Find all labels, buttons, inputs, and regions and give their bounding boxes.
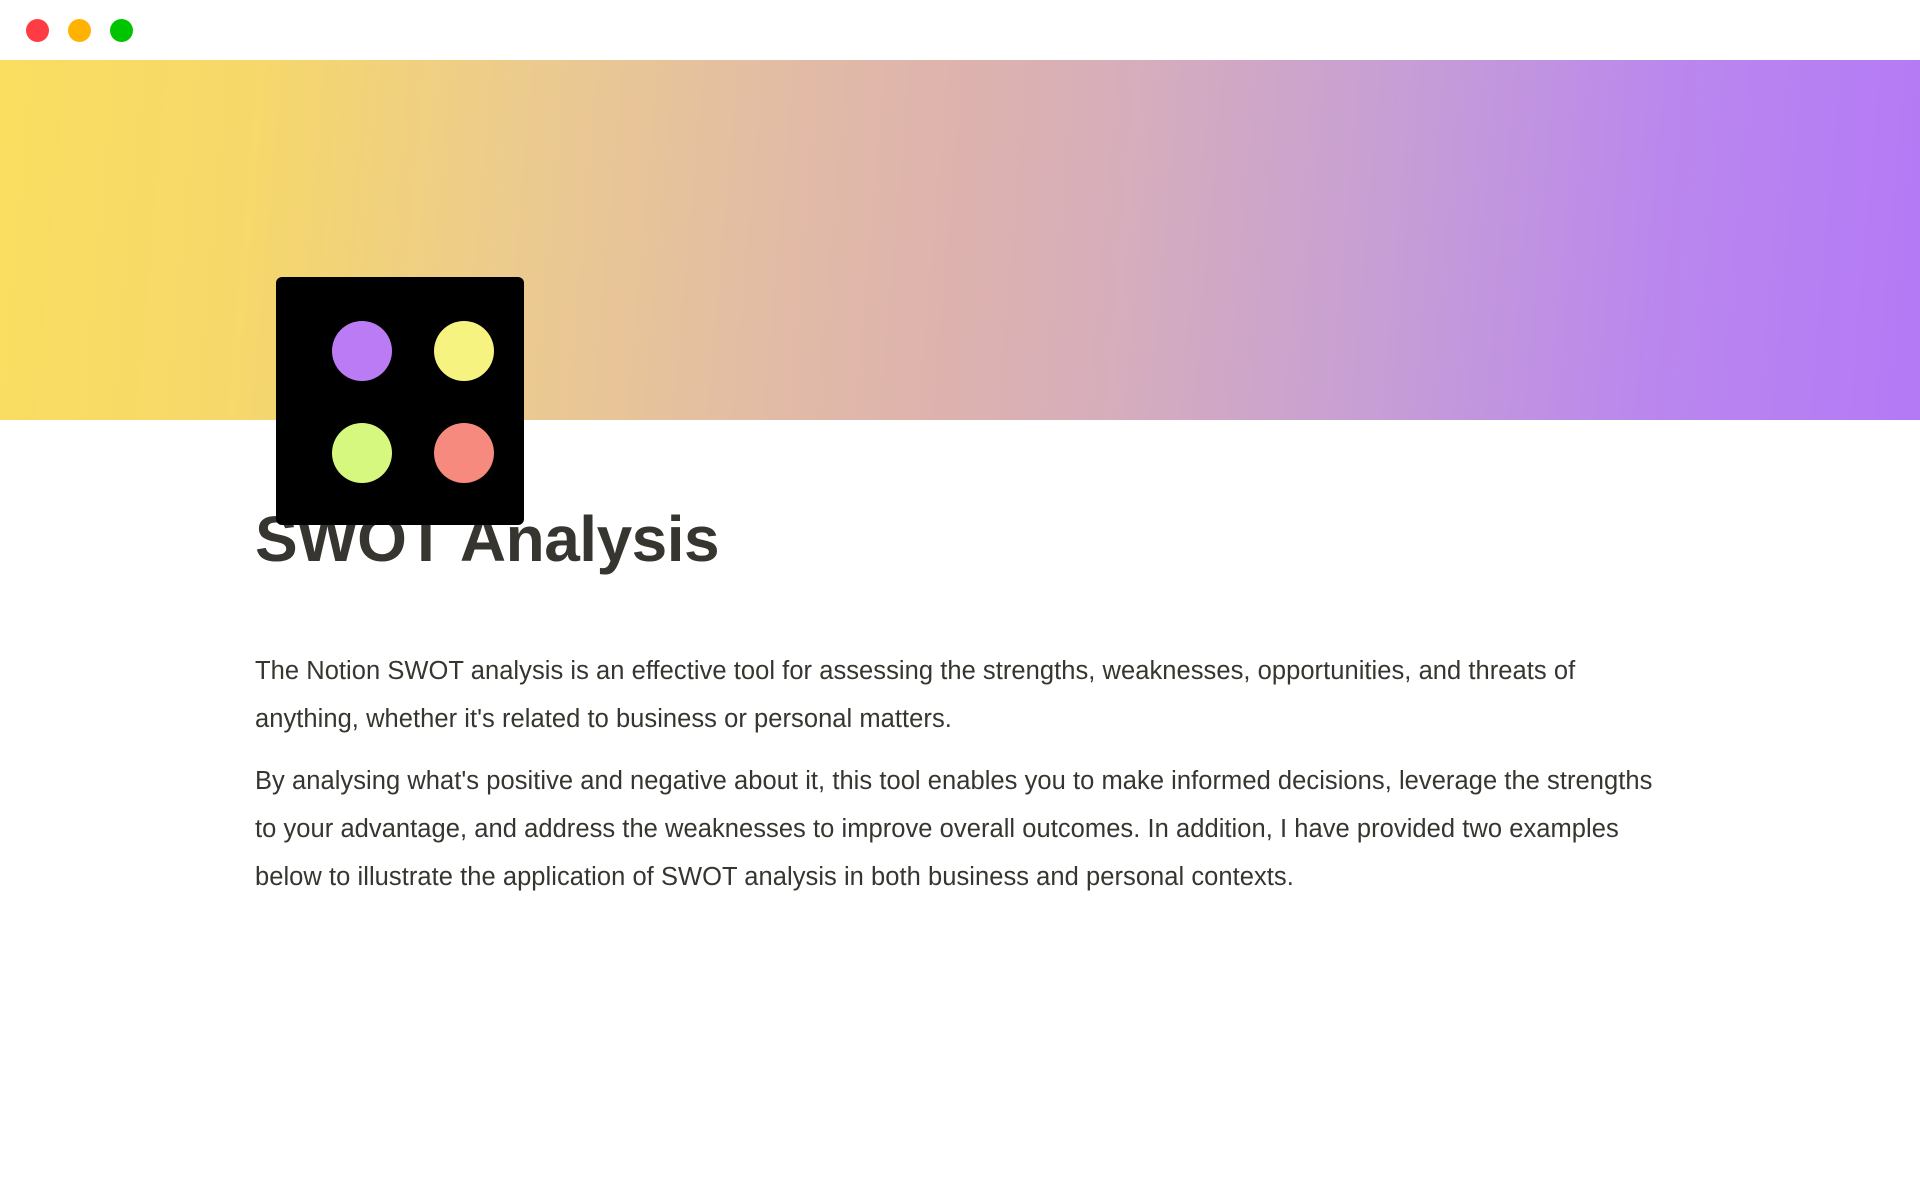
icon-dot-purple-icon <box>332 321 392 381</box>
intro-paragraph-1[interactable]: The Notion SWOT analysis is an effective… <box>255 647 1665 743</box>
app-window: SWOT Analysis The Notion SWOT analysis i… <box>0 0 1920 1200</box>
maximize-window-button[interactable] <box>110 19 133 42</box>
page-body: The Notion SWOT analysis is an effective… <box>255 647 1665 901</box>
intro-paragraph-2[interactable]: By analysing what's positive and negativ… <box>255 757 1665 901</box>
close-window-button[interactable] <box>26 19 49 42</box>
icon-dot-yellow-icon <box>434 321 494 381</box>
traffic-light-group <box>26 19 133 42</box>
icon-dot-salmon-icon <box>434 423 494 483</box>
window-titlebar <box>0 0 1920 60</box>
icon-dot-lime-icon <box>332 423 392 483</box>
page-icon[interactable] <box>276 277 524 525</box>
minimize-window-button[interactable] <box>68 19 91 42</box>
